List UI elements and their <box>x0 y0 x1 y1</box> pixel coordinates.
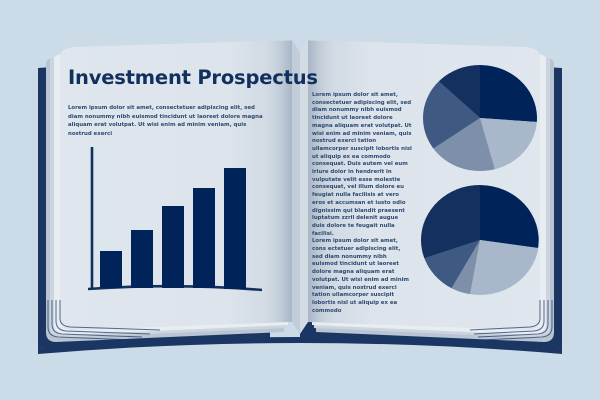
page-title: Investment Prospectus <box>68 66 298 89</box>
open-book-illustration: Investment Prospectus Lorem ipsum dolor … <box>0 0 600 400</box>
left-page-paragraph: Lorem ipsum dolor sit amet, consectetuer… <box>68 104 264 138</box>
right-page-paragraph-2: Lorem ipsum dolor sit amet, cons ectetue… <box>312 238 412 315</box>
right-page-text-column: Lorem ipsum dolor sit amet, consectetuer… <box>312 92 412 315</box>
page-text-layer: Investment Prospectus Lorem ipsum dolor … <box>0 0 600 400</box>
right-page-paragraph-1: Lorem ipsum dolor sit amet, consectetuer… <box>312 92 412 238</box>
